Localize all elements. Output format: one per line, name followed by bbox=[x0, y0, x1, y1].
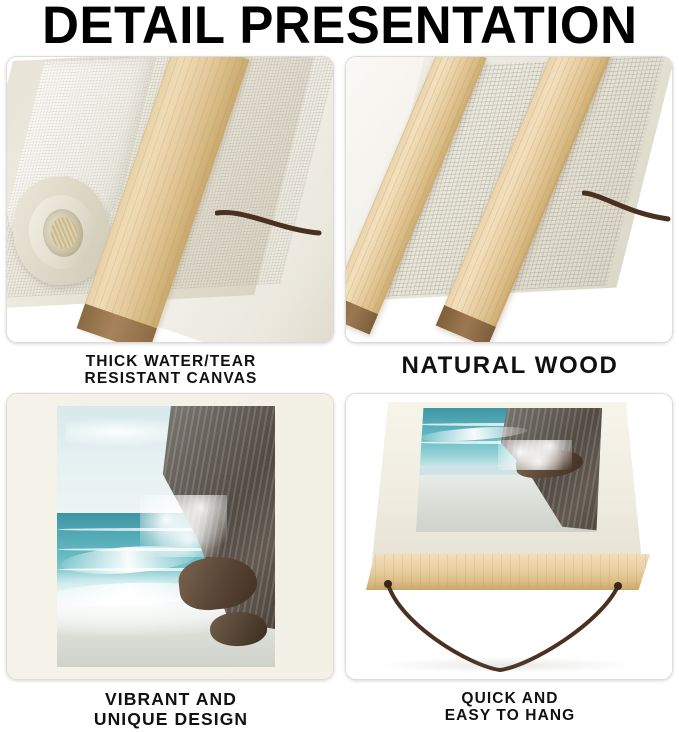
caption-line-1: QUICK AND bbox=[345, 690, 675, 707]
feature-cell-easy-hang: QUICK AND EASY TO HANG bbox=[345, 393, 675, 725]
feature-image-card-thick-canvas bbox=[6, 56, 334, 343]
leather-cord-icon bbox=[215, 207, 325, 257]
caption-line-2: EASY TO HANG bbox=[345, 707, 675, 724]
feature-cell-thick-canvas: THICK WATER/TEAR RESISTANT CANVAS bbox=[6, 56, 336, 388]
page-title-text: DETAIL PRESENTATION bbox=[42, 0, 637, 52]
feature-cell-vibrant-design: VIBRANT AND UNIQUE DESIGN bbox=[6, 393, 336, 729]
feature-cell-natural-wood: NATURAL WOOD bbox=[345, 56, 675, 380]
feature-image-card-natural-wood bbox=[345, 56, 673, 343]
feature-image-card-easy-hang bbox=[345, 393, 673, 680]
caption-line-2: RESISTANT CANVAS bbox=[6, 370, 336, 387]
feature-grid: THICK WATER/TEAR RESISTANT CANVAS bbox=[0, 56, 679, 732]
drop-shadow bbox=[376, 657, 636, 673]
photo-rolled-canvas bbox=[7, 57, 333, 342]
caption-line-1: THICK WATER/TEAR bbox=[6, 353, 336, 370]
feature-caption-easy-hang: QUICK AND EASY TO HANG bbox=[345, 690, 675, 725]
photo-artwork bbox=[7, 394, 333, 679]
artwork-sea-spray bbox=[140, 495, 227, 558]
feature-caption-vibrant-design: VIBRANT AND UNIQUE DESIGN bbox=[6, 690, 336, 729]
feature-caption-thick-canvas: THICK WATER/TEAR RESISTANT CANVAS bbox=[6, 353, 336, 388]
caption-line-2: UNIQUE DESIGN bbox=[6, 710, 336, 730]
seascape-artwork bbox=[57, 406, 275, 667]
leather-cord-icon bbox=[582, 189, 672, 237]
photo-natural-wood bbox=[346, 57, 672, 342]
detail-presentation-page: DETAIL PRESENTATION bbox=[0, 0, 679, 732]
hanging-canvas-artwork bbox=[416, 408, 602, 532]
page-title: DETAIL PRESENTATION bbox=[0, 0, 679, 52]
photo-hanging-canvas bbox=[346, 394, 672, 679]
caption-line-1: VIBRANT AND bbox=[6, 690, 336, 710]
feature-caption-natural-wood: NATURAL WOOD bbox=[345, 353, 675, 380]
feature-image-card-vibrant-design bbox=[6, 393, 334, 680]
caption-line-1: NATURAL WOOD bbox=[345, 353, 675, 380]
artwork-sea-spray bbox=[498, 440, 572, 470]
